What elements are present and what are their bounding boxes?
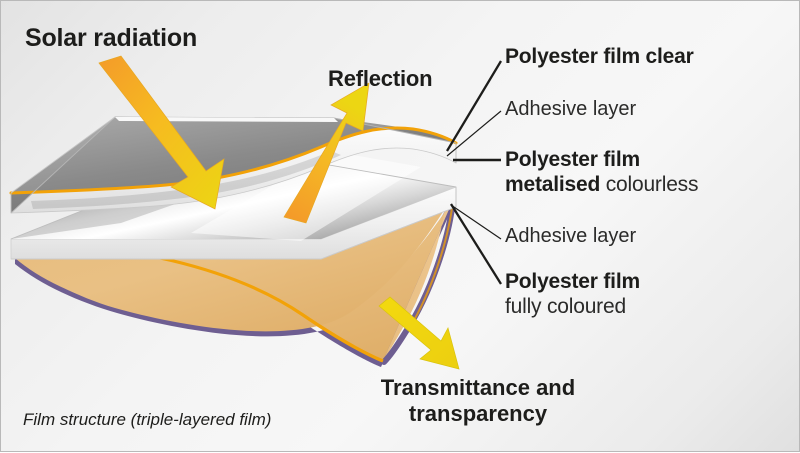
label-polyester-film-fully-coloured: Polyester film fully coloured (505, 269, 785, 319)
label-transmittance-line2: transparency (409, 401, 547, 426)
label-adhesive-layer-top: Adhesive layer (505, 99, 636, 121)
label-pfm-line1: Polyester film (505, 148, 640, 171)
label-reflection: Reflection (328, 67, 432, 91)
label-transmittance: Transmittance and transparency (353, 375, 603, 426)
label-pfm-line2: metalised (505, 173, 600, 196)
label-adhesive-layer-bottom: Adhesive layer (505, 226, 636, 248)
label-transmittance-line1: Transmittance and (381, 375, 575, 400)
leader-adhesive-top (447, 111, 501, 156)
label-pff-regular: fully coloured (505, 295, 626, 318)
leader-lines (447, 61, 501, 284)
label-pff-bold: Polyester film (505, 270, 640, 293)
leader-adhesive-bottom (451, 205, 501, 239)
figure-caption: Film structure (triple-layered film) (23, 411, 271, 429)
label-solar-radiation: Solar radiation (25, 25, 197, 52)
figure-canvas: Solar radiation Reflection Transmittance… (0, 0, 800, 452)
label-polyester-film-metalised: Polyester film metalised colourless (505, 147, 785, 197)
label-pfm-colourless: colourless (600, 173, 698, 196)
leader-polyester-coloured (451, 204, 501, 284)
label-polyester-film-clear: Polyester film clear (505, 46, 694, 69)
leader-polyester-clear (447, 61, 501, 151)
